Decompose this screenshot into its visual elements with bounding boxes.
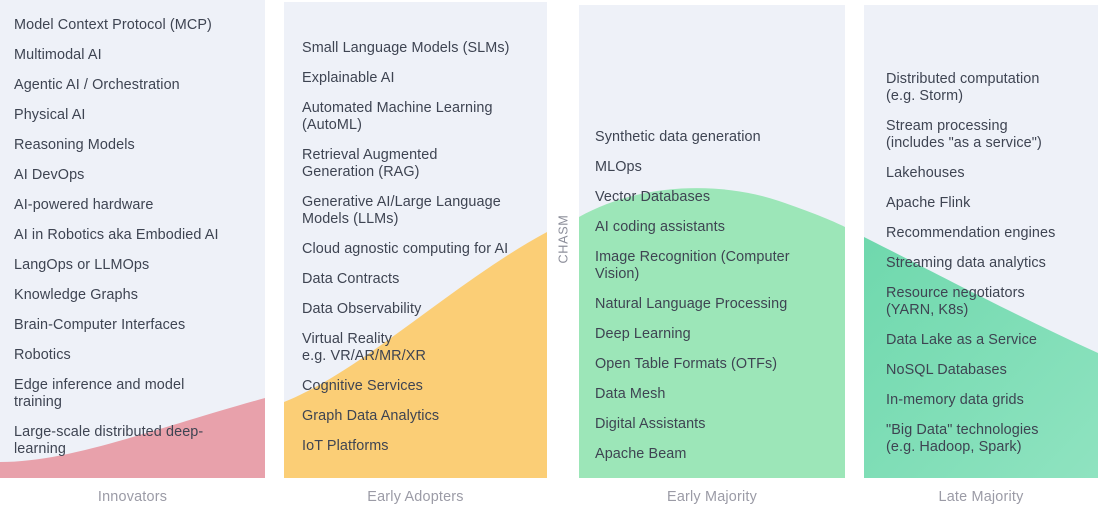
list-item: Knowledge Graphs	[14, 287, 249, 304]
list-item: Vector Databases	[595, 189, 829, 206]
list-item: Data Lake as a Service	[886, 332, 1084, 349]
column-early-majority: Synthetic data generation MLOps Vector D…	[579, 5, 845, 478]
list-item: AI-powered hardware	[14, 197, 249, 214]
list-item: Deep Learning	[595, 326, 829, 343]
adoption-curve-diagram: Model Context Protocol (MCP) Multimodal …	[0, 0, 1098, 513]
list-item: Multimodal AI	[14, 47, 249, 64]
list-item: In-memory data grids	[886, 392, 1084, 409]
list-item: "Big Data" technologies (e.g. Hadoop, Sp…	[886, 422, 1084, 456]
list-item: IoT Platforms	[302, 438, 531, 455]
list-item: Data Observability	[302, 301, 531, 318]
list-item: Digital Assistants	[595, 416, 829, 433]
stage-label-early-adopters: Early Adopters	[284, 489, 547, 505]
item-list-early-adopters: Small Language Models (SLMs) Explainable…	[284, 2, 547, 455]
list-item: Apache Beam	[595, 446, 829, 463]
list-item: Natural Language Processing	[595, 296, 829, 313]
list-item: Graph Data Analytics	[302, 408, 531, 425]
list-item: Apache Flink	[886, 195, 1084, 212]
item-list-late-majority: Distributed computation (e.g. Storm) Str…	[864, 5, 1098, 456]
list-item: Synthetic data generation	[595, 129, 829, 146]
list-item: Distributed computation (e.g. Storm)	[886, 71, 1084, 105]
list-item: Lakehouses	[886, 165, 1084, 182]
stage-label-innovators: Innovators	[0, 489, 265, 505]
list-item: Image Recognition (Computer Vision)	[595, 249, 829, 283]
column-innovators: Model Context Protocol (MCP) Multimodal …	[0, 0, 265, 478]
list-item: Model Context Protocol (MCP)	[14, 17, 249, 34]
list-item: Explainable AI	[302, 70, 531, 87]
list-item: AI DevOps	[14, 167, 249, 184]
stage-label-late-majority: Late Majority	[864, 489, 1098, 505]
list-item: Reasoning Models	[14, 137, 249, 154]
list-item: Physical AI	[14, 107, 249, 124]
list-item: Brain-Computer Interfaces	[14, 317, 249, 334]
list-item: Streaming data analytics	[886, 255, 1084, 272]
list-item: Edge inference and model training	[14, 377, 249, 411]
list-item: Retrieval Augmented Generation (RAG)	[302, 147, 531, 181]
list-item: Large-scale distributed deep- learning	[14, 424, 249, 458]
item-list-innovators: Model Context Protocol (MCP) Multimodal …	[0, 0, 265, 458]
list-item: MLOps	[595, 159, 829, 176]
list-item: Cloud agnostic computing for AI	[302, 241, 531, 258]
chasm-label: CHASM	[548, 0, 579, 478]
list-item: Cognitive Services	[302, 378, 531, 395]
list-item: LangOps or LLMOps	[14, 257, 249, 274]
list-item: Virtual Reality e.g. VR/AR/MR/XR	[302, 331, 531, 365]
list-item: Robotics	[14, 347, 249, 364]
list-item: AI in Robotics aka Embodied AI	[14, 227, 249, 244]
item-list-early-majority: Synthetic data generation MLOps Vector D…	[579, 5, 845, 463]
list-item: NoSQL Databases	[886, 362, 1084, 379]
list-item: Agentic AI / Orchestration	[14, 77, 249, 94]
list-item: Small Language Models (SLMs)	[302, 40, 531, 57]
list-item: Data Contracts	[302, 271, 531, 288]
column-early-adopters: Small Language Models (SLMs) Explainable…	[284, 2, 547, 478]
list-item: Automated Machine Learning (AutoML)	[302, 100, 531, 134]
list-item: Generative AI/Large Language Models (LLM…	[302, 194, 531, 228]
chasm-label-text: CHASM	[557, 215, 571, 264]
column-late-majority: Distributed computation (e.g. Storm) Str…	[864, 5, 1098, 478]
list-item: Recommendation engines	[886, 225, 1084, 242]
list-item: Stream processing (includes "as a servic…	[886, 118, 1084, 152]
list-item: Resource negotiators (YARN, K8s)	[886, 285, 1084, 319]
list-item: Data Mesh	[595, 386, 829, 403]
list-item: Open Table Formats (OTFs)	[595, 356, 829, 373]
stage-label-early-majority: Early Majority	[579, 489, 845, 505]
list-item: AI coding assistants	[595, 219, 829, 236]
